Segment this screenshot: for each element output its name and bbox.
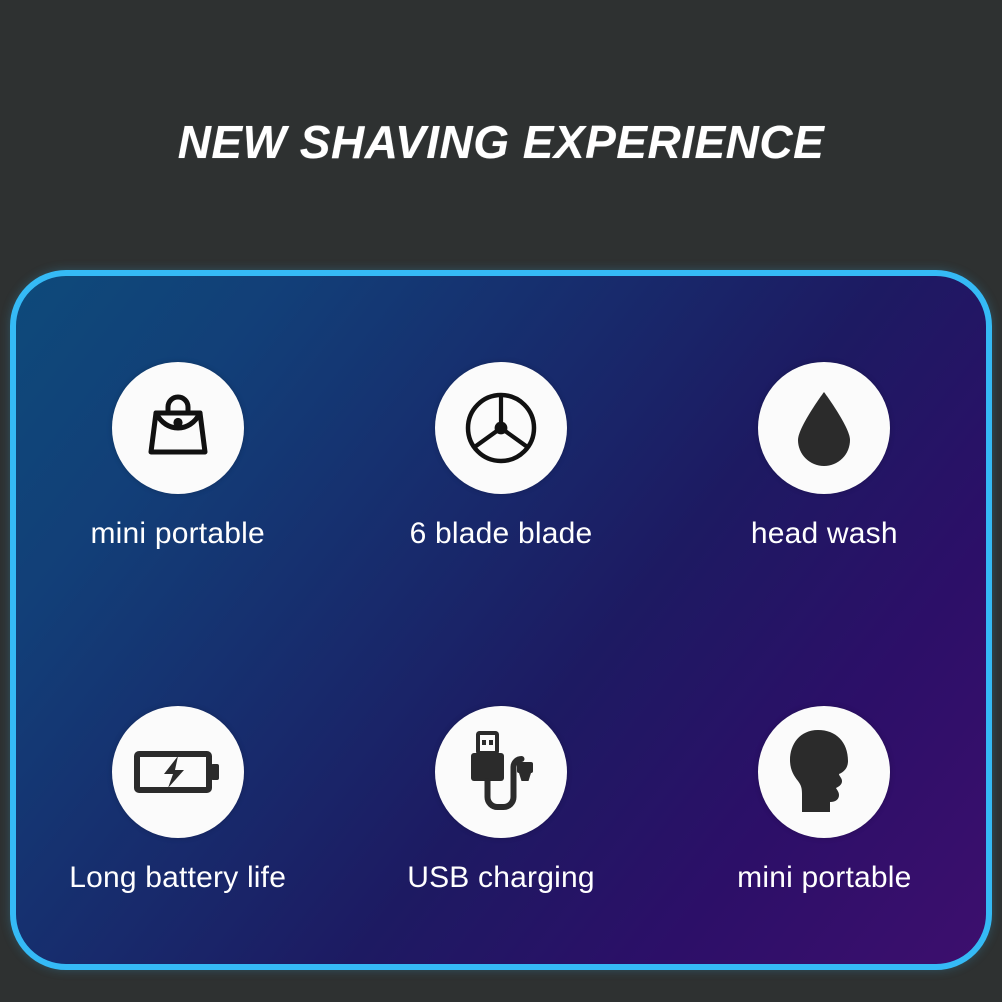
feature-item-head-wash[interactable]: head wash (663, 344, 986, 552)
battery-terminal (211, 764, 219, 780)
icon-badge (112, 706, 244, 838)
feature-grid: mini portable 6 blade blade (16, 276, 986, 964)
handbag-clasp-dot (173, 418, 182, 427)
handbag-icon (139, 389, 217, 467)
page-title: NEW SHAVING EXPERIENCE (0, 112, 1002, 172)
feature-item-mini-portable[interactable]: mini portable (16, 344, 339, 552)
feature-label: 6 blade blade (410, 516, 593, 552)
blade-head-icon (460, 387, 542, 469)
icon-badge (435, 362, 567, 494)
feature-panel: mini portable 6 blade blade (10, 270, 992, 970)
usb-cable-icon (461, 729, 541, 815)
icon-badge (112, 362, 244, 494)
head-profile-icon (784, 728, 864, 816)
icon-badge (758, 706, 890, 838)
water-drop-icon (789, 388, 859, 468)
icon-badge (435, 706, 567, 838)
feature-item-blade[interactable]: 6 blade blade (339, 344, 662, 552)
feature-label: Long battery life (69, 860, 286, 896)
feature-label: mini portable (90, 516, 264, 552)
feature-label: USB charging (407, 860, 595, 896)
blade-hub-dot (495, 422, 508, 435)
feature-item-head-profile[interactable]: mini portable (663, 688, 986, 896)
feature-item-usb[interactable]: USB charging (339, 688, 662, 896)
feature-label: head wash (751, 516, 898, 552)
feature-label: mini portable (737, 860, 911, 896)
lightning-bolt (164, 756, 184, 788)
feature-item-battery[interactable]: Long battery life (16, 688, 339, 896)
icon-badge (758, 362, 890, 494)
battery-charging-icon (134, 746, 222, 798)
